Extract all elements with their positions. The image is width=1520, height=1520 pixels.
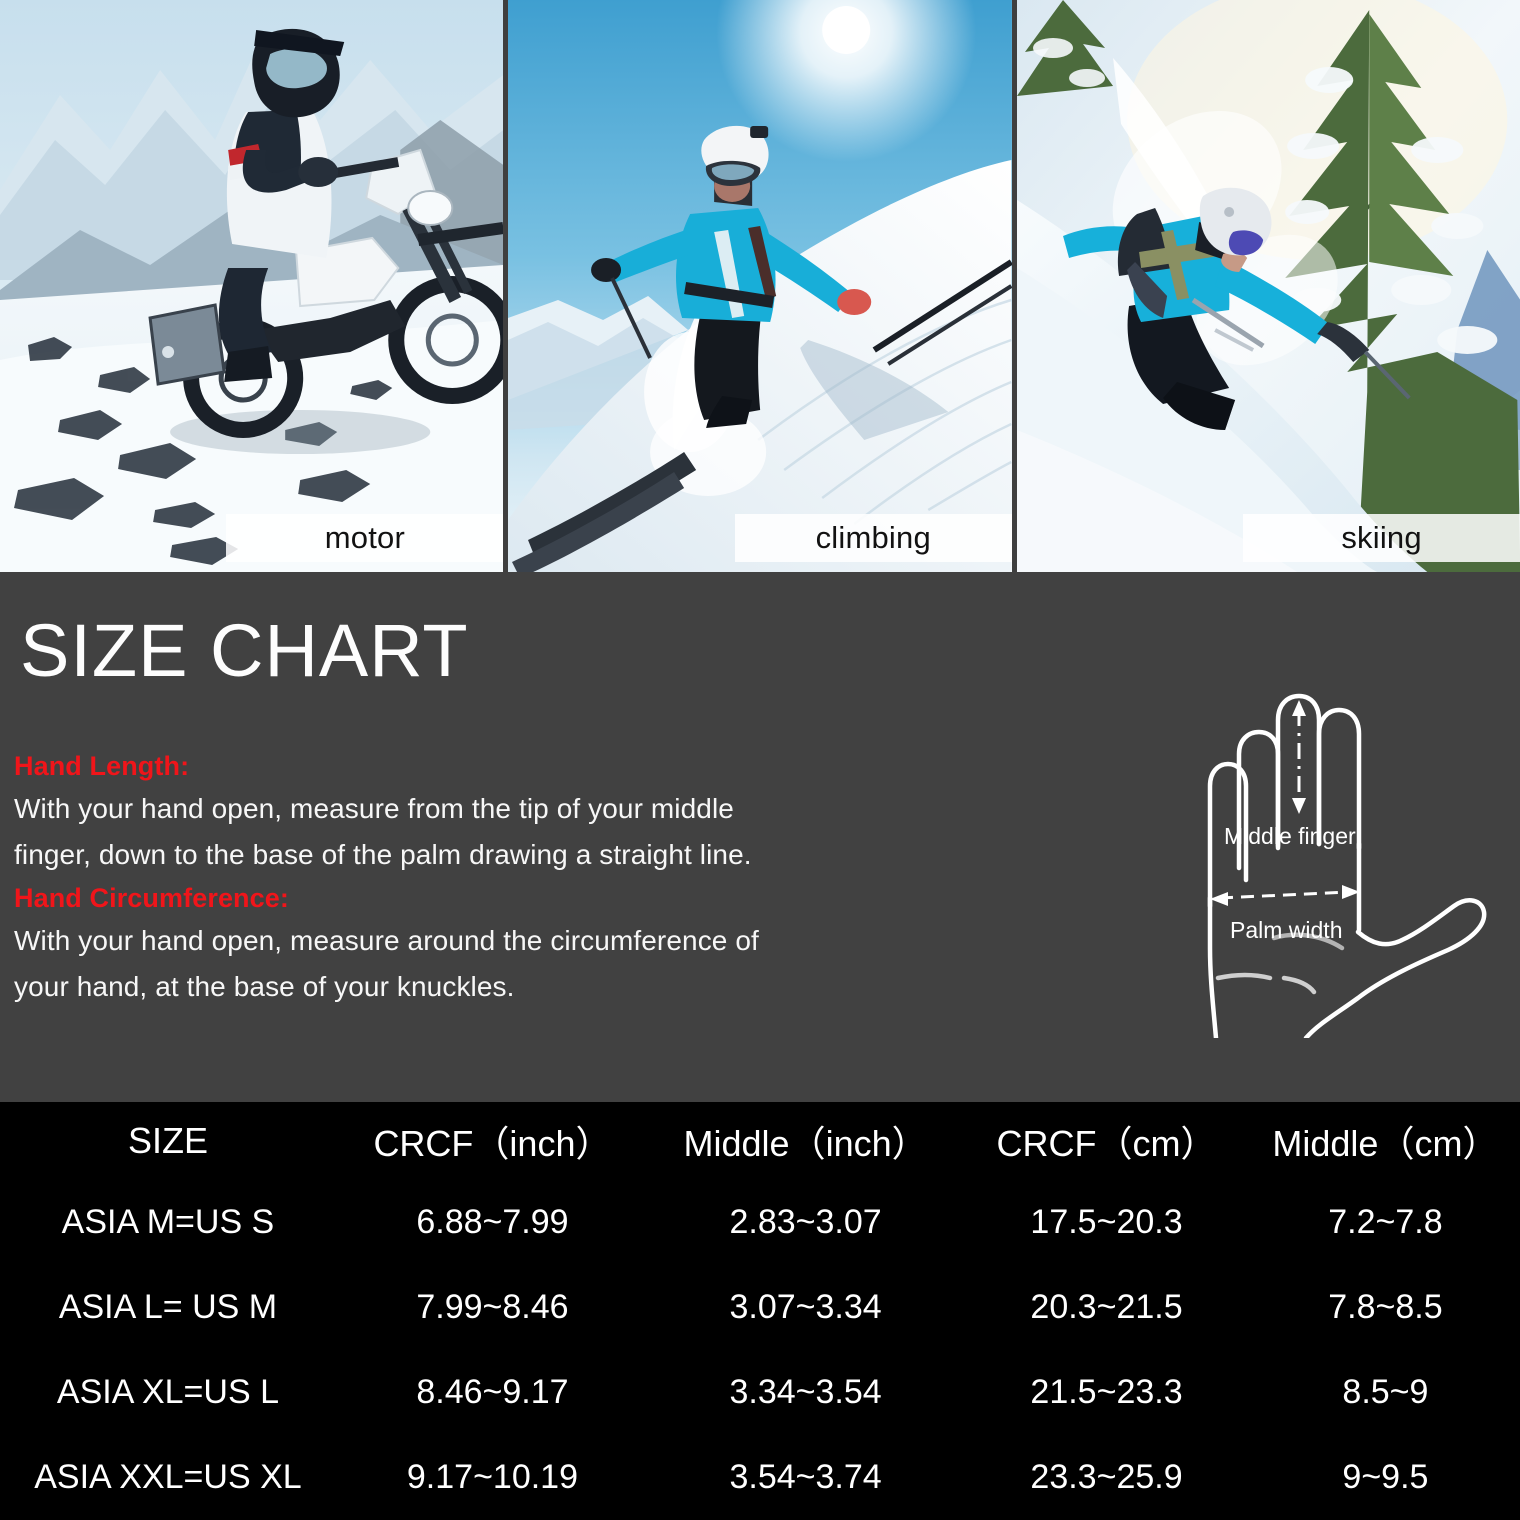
hand-measurement-diagram: Middle finger Palm width (1158, 648, 1508, 1038)
activity-photo-skiing: skiing (1017, 0, 1520, 572)
photo-caption-skiing: skiing (1243, 514, 1520, 562)
cell-crcf-inch: 7.99~8.46 (336, 1288, 649, 1327)
size-table: SIZE CRCF（inch） Middle（inch） CRCF（cm） Mi… (0, 1102, 1520, 1520)
cell-middle-cm: 8.5~9 (1251, 1373, 1520, 1412)
skier-sun-scene-illustration (508, 0, 1011, 572)
cell-crcf-cm: 23.3~25.9 (962, 1458, 1251, 1497)
powder-skier-pine-scene-illustration (1017, 0, 1520, 572)
cell-crcf-inch: 9.17~10.19 (336, 1458, 649, 1497)
measurement-instructions: Hand Length: With your hand open, measur… (14, 747, 1024, 1010)
cell-middle-inch: 3.34~3.54 (649, 1373, 962, 1412)
cell-crcf-inch: 6.88~7.99 (336, 1203, 649, 1242)
activity-photo-strip: motor (0, 0, 1520, 572)
cell-size: ASIA XL=US L (0, 1373, 336, 1412)
cell-middle-cm: 7.8~8.5 (1251, 1288, 1520, 1327)
table-header-size: SIZE (0, 1120, 336, 1162)
hand-outline-icon: Middle finger Palm width (1158, 648, 1508, 1038)
table-header-middle-cm: Middle（cm） (1251, 1115, 1520, 1167)
photo-caption-motor: motor (226, 514, 503, 562)
cell-crcf-cm: 17.5~20.3 (962, 1203, 1251, 1242)
table-header-crcf-inch: CRCF（inch） (336, 1115, 649, 1167)
table-row: ASIA L= US M 7.99~8.46 3.07~3.34 20.3~21… (0, 1265, 1520, 1350)
table-header-middle-inch: Middle（inch） (649, 1115, 962, 1167)
table-row: ASIA XL=US L 8.46~9.17 3.34~3.54 21.5~23… (0, 1350, 1520, 1435)
cell-middle-cm: 7.2~7.8 (1251, 1203, 1520, 1242)
activity-photo-climbing: climbing (508, 0, 1011, 572)
photo-caption-climbing: climbing (735, 514, 1012, 562)
table-header-crcf-cm: CRCF（cm） (962, 1115, 1251, 1167)
cell-middle-cm: 9~9.5 (1251, 1458, 1520, 1497)
palm-width-label: Palm width (1230, 917, 1342, 943)
table-row: ASIA M=US S 6.88~7.99 2.83~3.07 17.5~20.… (0, 1180, 1520, 1265)
cell-crcf-cm: 20.3~21.5 (962, 1288, 1251, 1327)
motorcycle-scene-illustration (0, 0, 503, 572)
hand-circumference-line-2: your hand, at the base of your knuckles. (14, 964, 1024, 1010)
cell-crcf-inch: 8.46~9.17 (336, 1373, 649, 1412)
cell-size: ASIA XXL=US XL (0, 1458, 336, 1497)
cell-crcf-cm: 21.5~23.3 (962, 1373, 1251, 1412)
middle-finger-label: Middle finger (1224, 823, 1356, 849)
cell-middle-inch: 2.83~3.07 (649, 1203, 962, 1242)
activity-photo-motor: motor (0, 0, 503, 572)
photo-caption-text: climbing (816, 520, 931, 556)
table-header-row: SIZE CRCF（inch） Middle（inch） CRCF（cm） Mi… (0, 1102, 1520, 1180)
page-title: SIZE CHART (20, 614, 469, 688)
hand-length-heading: Hand Length: (14, 747, 1024, 786)
table-row: ASIA XXL=US XL 9.17~10.19 3.54~3.74 23.3… (0, 1435, 1520, 1520)
size-chart-page: motor (0, 0, 1520, 1520)
hand-circumference-heading: Hand Circumference: (14, 879, 1024, 918)
hand-length-line-1: With your hand open, measure from the ti… (14, 786, 1024, 832)
photo-caption-text: motor (325, 520, 405, 556)
photo-caption-text: skiing (1341, 520, 1421, 556)
cell-middle-inch: 3.54~3.74 (649, 1458, 962, 1497)
cell-middle-inch: 3.07~3.34 (649, 1288, 962, 1327)
hand-length-line-2: finger, down to the base of the palm dra… (14, 832, 1024, 878)
hand-circumference-line-1: With your hand open, measure around the … (14, 918, 1024, 964)
cell-size: ASIA M=US S (0, 1203, 336, 1242)
cell-size: ASIA L= US M (0, 1288, 336, 1327)
